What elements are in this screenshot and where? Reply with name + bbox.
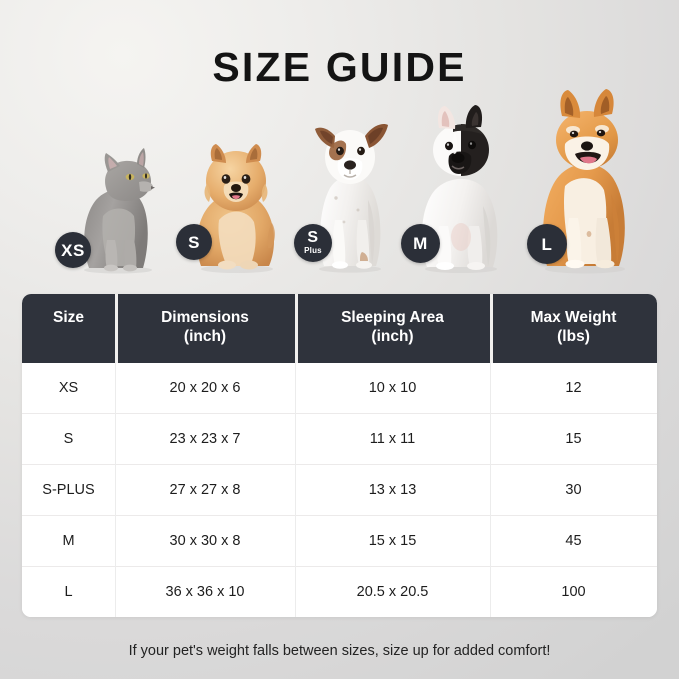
table-row: XS 20 x 20 x 6 10 x 10 12 xyxy=(22,363,657,413)
column-header-dimensions: Dimensions (inch) xyxy=(115,294,295,363)
pet-figure-l: L xyxy=(527,82,642,274)
cell-sleeping-area: 11 x 11 xyxy=(295,414,490,464)
size-badge-label: S xyxy=(188,234,200,251)
cell-size: XS xyxy=(22,363,115,413)
cell-dimensions: 30 x 30 x 8 xyxy=(115,516,295,566)
pet-figure-s-plus: S Plus xyxy=(300,102,400,274)
size-guide-page: SIZE GUIDE xyxy=(0,0,679,679)
table-header-row: Size Dimensions (inch) Sleeping Area (in… xyxy=(22,294,657,363)
size-up-note: If your pet's weight falls between sizes… xyxy=(0,643,679,659)
column-header-max-weight: Max Weight (lbs) xyxy=(490,294,657,363)
cell-size: S xyxy=(22,414,115,464)
table-row: M 30 x 30 x 8 15 x 15 45 xyxy=(22,515,657,566)
table-body: XS 20 x 20 x 6 10 x 10 12 S 23 x 23 x 7 … xyxy=(22,363,657,617)
cell-sleeping-area: 10 x 10 xyxy=(295,363,490,413)
cell-dimensions: 27 x 27 x 8 xyxy=(115,465,295,515)
column-header-sleeping-area: Sleeping Area (inch) xyxy=(295,294,490,363)
size-badge-l: L xyxy=(527,224,567,264)
table-row: S-PLUS 27 x 27 x 8 13 x 13 30 xyxy=(22,464,657,515)
size-badge-label: M xyxy=(413,235,428,252)
pet-illustration-strip: XS xyxy=(0,80,679,280)
table-row: L 36 x 36 x 10 20.5 x 20.5 100 xyxy=(22,566,657,617)
pet-figure-s: S xyxy=(183,134,288,274)
cell-max-weight: 15 xyxy=(490,414,657,464)
cell-max-weight: 45 xyxy=(490,516,657,566)
column-header-size: Size xyxy=(22,294,115,363)
cell-dimensions: 23 x 23 x 7 xyxy=(115,414,295,464)
cell-size: M xyxy=(22,516,115,566)
column-header-line2: (inch) xyxy=(299,328,486,347)
size-badge-s: S xyxy=(176,224,212,260)
pet-figure-m: M xyxy=(405,102,515,274)
column-header-line1: Sleeping Area xyxy=(299,309,486,328)
size-badge-sublabel: Plus xyxy=(304,247,322,255)
size-badge-label: L xyxy=(542,236,553,253)
cell-max-weight: 100 xyxy=(490,567,657,617)
size-table: Size Dimensions (inch) Sleeping Area (in… xyxy=(22,294,657,617)
cell-sleeping-area: 13 x 13 xyxy=(295,465,490,515)
column-header-line1: Dimensions xyxy=(119,309,291,328)
cell-dimensions: 36 x 36 x 10 xyxy=(115,567,295,617)
cell-sleeping-area: 15 x 15 xyxy=(295,516,490,566)
column-header-line1: Size xyxy=(26,309,111,328)
column-header-line2: (lbs) xyxy=(494,328,653,347)
size-badge-s-plus: S Plus xyxy=(294,224,332,262)
cell-dimensions: 20 x 20 x 6 xyxy=(115,363,295,413)
size-badge-label: XS xyxy=(61,242,85,259)
cell-size: L xyxy=(22,567,115,617)
cell-sleeping-area: 20.5 x 20.5 xyxy=(295,567,490,617)
cell-max-weight: 30 xyxy=(490,465,657,515)
size-badge-m: M xyxy=(401,224,440,263)
column-header-line2: (inch) xyxy=(119,328,291,347)
size-badge-label: S xyxy=(307,230,318,246)
table-row: S 23 x 23 x 7 11 x 11 15 xyxy=(22,413,657,464)
size-badge-xs: XS xyxy=(55,232,91,268)
cell-size: S-PLUS xyxy=(22,465,115,515)
pet-figure-xs: XS xyxy=(63,144,168,274)
column-header-line1: Max Weight xyxy=(494,309,653,328)
cell-max-weight: 12 xyxy=(490,363,657,413)
